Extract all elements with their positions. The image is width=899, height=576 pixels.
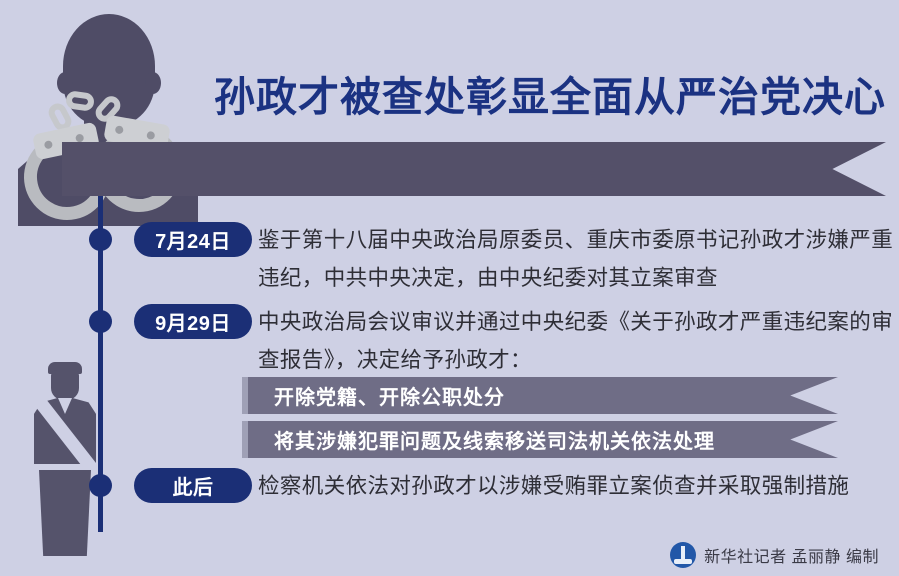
timeline-date-badge: 7月24日 <box>134 222 252 257</box>
footer-credit: 新华社记者 孟丽静 编制 <box>670 542 879 568</box>
police-officer-silhouette <box>22 360 108 560</box>
measure-accent-bar <box>242 421 248 458</box>
handcuff-stud <box>146 131 155 140</box>
timeline-entry-text: 检察机关依法对孙政才以涉嫌受贿罪立案侦查并采取强制措施 <box>258 467 898 505</box>
timeline-dot <box>89 228 112 251</box>
credit-text: 新华社记者 孟丽静 编制 <box>704 543 879 567</box>
infographic-poster: 孙政才被查处彰显全面从严治党决心 7月24日 鉴于第十八届中央政治局原委员、重庆… <box>0 0 899 576</box>
handcuff-chain-link <box>65 90 95 112</box>
officer-legs <box>39 470 91 556</box>
timeline-date-badge: 此后 <box>134 468 252 503</box>
measure-banner: 将其涉嫌犯罪问题及线索移送司法机关依法处理 <box>242 421 838 458</box>
page-title: 孙政才被查处彰显全面从严治党决心 <box>168 72 886 122</box>
measure-label: 将其涉嫌犯罪问题及线索移送司法机关依法处理 <box>274 425 715 454</box>
timeline-entry-text: 中央政治局会议审议并通过中央纪委《关于孙政才严重违纪案的审查报告》，决定给予孙政… <box>258 303 898 379</box>
xinhua-logo-icon <box>670 542 696 568</box>
measure-banner: 开除党籍、开除公职处分 <box>242 377 838 414</box>
timeline-dot <box>89 310 112 333</box>
title-ribbon <box>62 142 886 196</box>
handcuff-stud <box>44 140 53 149</box>
timeline-date-badge: 9月29日 <box>134 304 252 339</box>
measure-label: 开除党籍、开除公职处分 <box>274 381 505 410</box>
measure-accent-bar <box>242 377 248 414</box>
timeline-entry-text: 鉴于第十八届中央政治局原委员、重庆市委原书记孙政才涉嫌严重违纪，中共中央决定，由… <box>258 221 898 297</box>
officer-head <box>51 370 79 400</box>
handcuff-stud <box>75 133 84 142</box>
timeline-dot <box>89 474 112 497</box>
handcuff-stud <box>115 125 124 134</box>
